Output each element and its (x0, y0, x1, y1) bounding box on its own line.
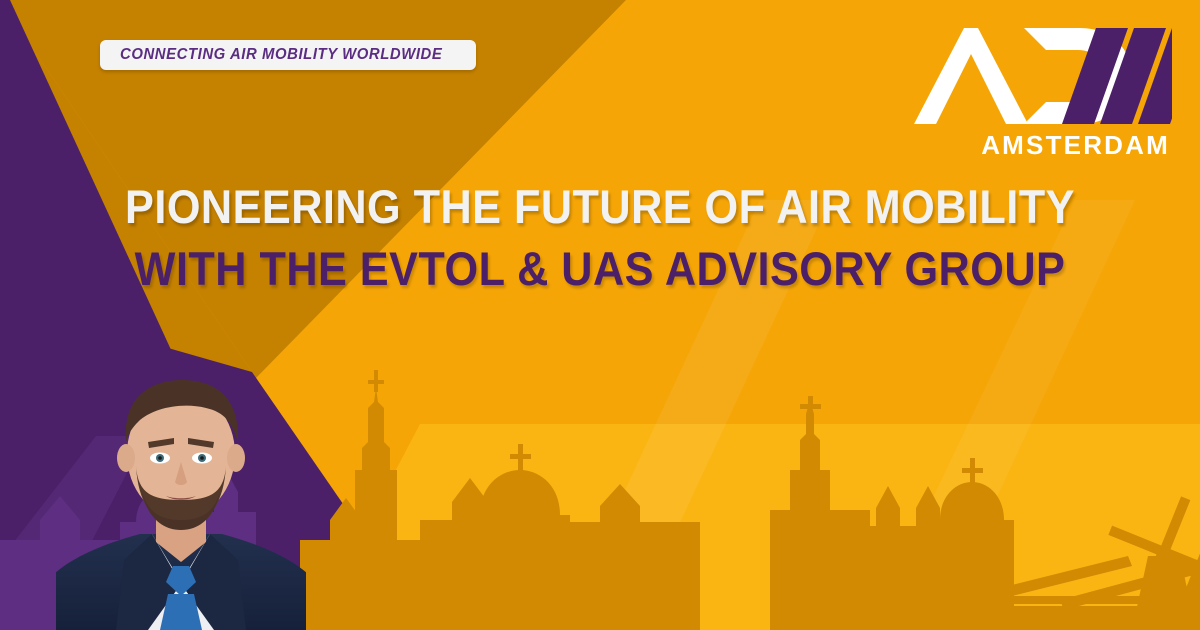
portrait-ear-left (117, 444, 135, 472)
tagline-badge: CONNECTING AIR MOBILITY WORLDWIDE (100, 40, 476, 70)
adw-amsterdam-logo[interactable]: AMSTERDAM (906, 24, 1172, 158)
logo-letter-a (914, 28, 1028, 124)
headline-block: PIONEERING THE FUTURE OF AIR MOBILITY WI… (0, 176, 1200, 300)
adw-logo-mark-icon (906, 24, 1172, 128)
tagline-badge-label: CONNECTING AIR MOBILITY WORLDWIDE (120, 46, 442, 64)
skyline-cross-arm-1 (368, 380, 384, 384)
logo-wordmark: AMSTERDAM (981, 132, 1170, 158)
headline-line-1: PIONEERING THE FUTURE OF AIR MOBILITY (59, 176, 1141, 238)
headline-line-2: WITH THE EVTOL & UAS ADVISORY GROUP (59, 238, 1141, 300)
speaker-headshot (56, 370, 306, 630)
portrait-pupil-right (200, 456, 204, 460)
portrait-pupil-left (158, 456, 162, 460)
skyline-dome-church (470, 470, 570, 630)
event-promo-banner: CONNECTING AIR MOBILITY WORLDWIDE AMSTER… (0, 0, 1200, 630)
skyline-cross-arm-4 (962, 468, 983, 473)
skyline-cross-arm-2 (510, 454, 531, 459)
skyline-cross-arm-3 (800, 404, 821, 409)
portrait-ear-right (227, 444, 245, 472)
